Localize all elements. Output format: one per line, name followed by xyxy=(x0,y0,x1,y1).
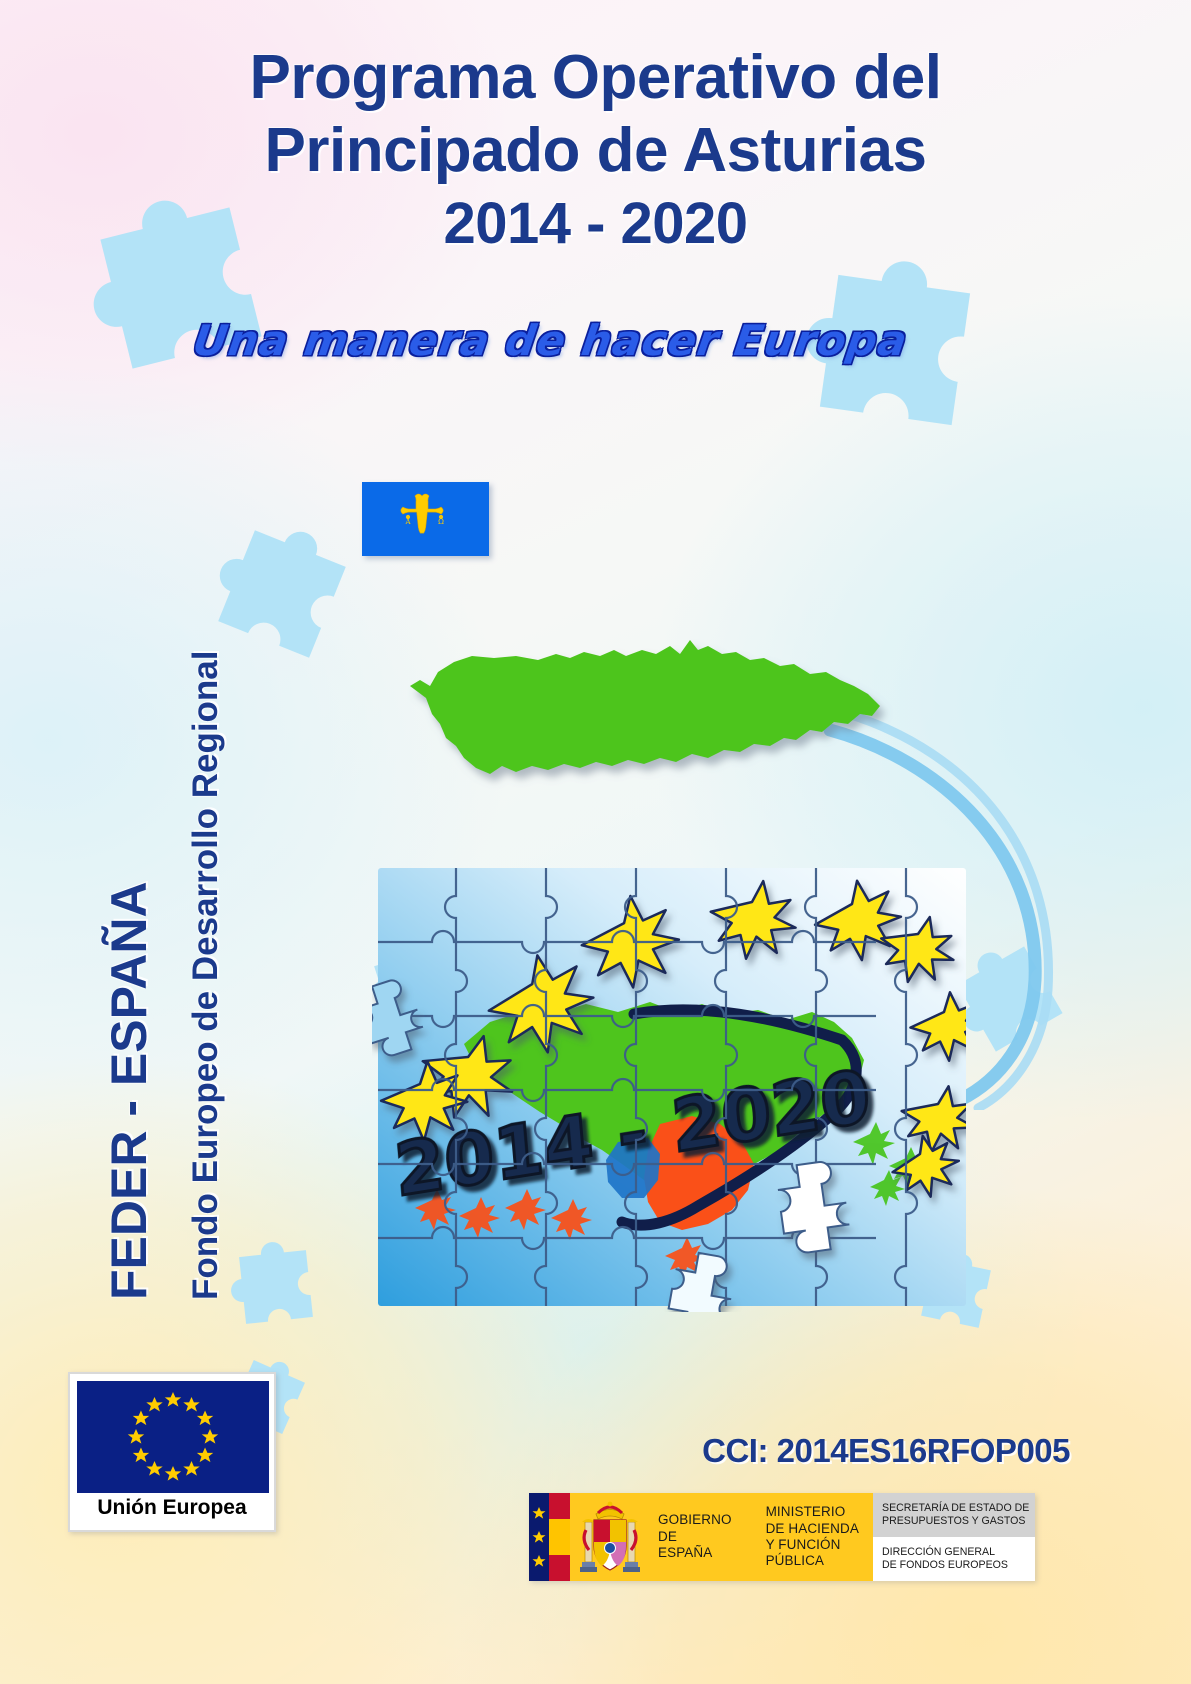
eu-logo-caption: Unión Europea xyxy=(70,1496,274,1520)
asturias-map xyxy=(398,594,898,804)
ministerio-text: MINISTERIO DE HACIENDA Y FUNCIÓN PÚBLICA xyxy=(766,1504,873,1570)
direccion-block: DIRECCIÓN GENERAL DE FONDOS EUROPEOS xyxy=(873,1537,1035,1581)
gobierno-de-espana-logo: GOBIERNO DE ESPAÑA MINISTERIO DE HACIEND… xyxy=(529,1493,1035,1581)
side-text-fondo-europeo: Fondo Europeo de Desarrollo Regional xyxy=(186,651,226,1301)
direccion-text: DIRECCIÓN GENERAL DE FONDOS EUROPEOS xyxy=(882,1546,1008,1572)
eu-flag xyxy=(77,1381,269,1493)
secretaria-text: SECRETARÍA DE ESTADO DE PRESUPUESTOS Y G… xyxy=(882,1502,1029,1528)
puzzle-board: 2014 - 2020 xyxy=(378,868,972,1306)
gobierno-right-panel: SECRETARÍA DE ESTADO DE PRESUPUESTOS Y G… xyxy=(873,1493,1035,1581)
svg-text:A: A xyxy=(404,518,411,526)
side-text-feder-espana: FEDER - ESPAÑA xyxy=(100,881,158,1300)
asturias-flag: A Ω xyxy=(362,482,489,556)
eu-mini-stars-icon xyxy=(529,1493,549,1581)
eu-stars-icon xyxy=(77,1381,269,1493)
asturias-cross-icon: A Ω xyxy=(362,482,489,556)
eu-logo: Unión Europea xyxy=(68,1372,276,1532)
spain-coat-of-arms-icon xyxy=(578,1500,642,1574)
cci-code: CCI: 2014ES16RFOP005 xyxy=(600,1432,1070,1470)
gobierno-de-espana-text: GOBIERNO DE ESPAÑA xyxy=(658,1512,732,1561)
gobierno-yellow-panel: GOBIERNO DE ESPAÑA MINISTERIO DE HACIEND… xyxy=(570,1493,873,1581)
document-cover-page: Programa Operativo del Principado de Ast… xyxy=(0,0,1191,1684)
flag-stripe-blue xyxy=(529,1493,549,1581)
flag-stripe-red xyxy=(549,1493,570,1581)
svg-text:Ω: Ω xyxy=(438,518,444,526)
flag-stripes xyxy=(529,1493,570,1581)
secretaria-block: SECRETARÍA DE ESTADO DE PRESUPUESTOS Y G… xyxy=(873,1493,1035,1537)
puzzle-map-graphic: 2014 - 2020 xyxy=(372,862,972,1312)
